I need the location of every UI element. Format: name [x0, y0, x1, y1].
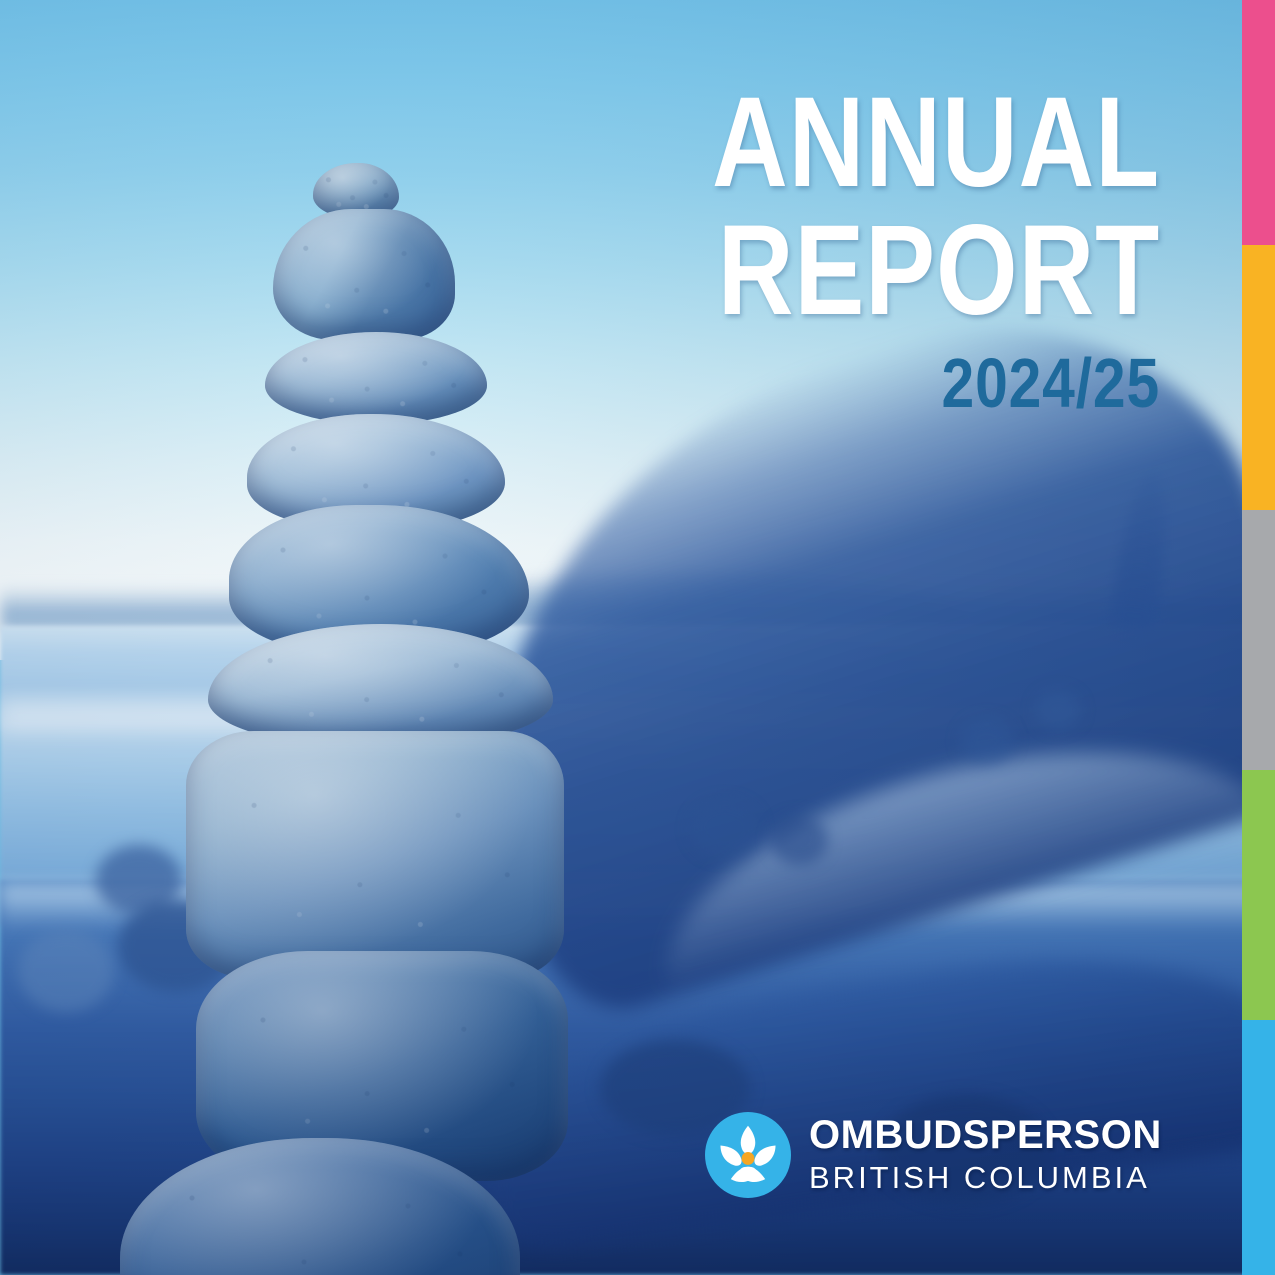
brand-color-stripe	[1242, 0, 1275, 1275]
cairn-stone-7	[186, 731, 564, 979]
color-stripe-segment-pink	[1242, 0, 1275, 245]
color-stripe-segment-cyan	[1242, 1020, 1275, 1275]
cover-title-block: ANNUAL REPORT 2024/25	[460, 88, 1160, 418]
logo-organization-name: OMBUDSPERSON	[809, 1115, 1162, 1155]
ombudsperson-bc-logo: OMBUDSPERSON BRITISH COLUMBIA	[705, 1112, 1162, 1198]
title-line-annual: ANNUAL	[586, 88, 1160, 198]
cairn-stone-3	[265, 332, 487, 424]
background-pebble	[960, 718, 1014, 764]
report-cover-page: ANNUAL REPORT 2024/25 OMBUDSPERSON BRITI…	[0, 0, 1275, 1275]
title-line-report: REPORT	[586, 216, 1160, 326]
color-stripe-segment-gray	[1242, 510, 1275, 770]
color-stripe-segment-yellow	[1242, 245, 1275, 510]
dogwood-flower-icon	[705, 1112, 791, 1198]
color-stripe-segment-green	[1242, 770, 1275, 1020]
cairn-stone-6	[208, 624, 553, 746]
logo-jurisdiction: BRITISH COLUMBIA	[809, 1162, 1162, 1193]
background-pebble	[1035, 690, 1081, 730]
logo-wordmark: OMBUDSPERSON BRITISH COLUMBIA	[809, 1115, 1162, 1195]
background-pebble	[690, 800, 760, 858]
title-year: 2024/25	[572, 348, 1160, 418]
background-pebble	[770, 815, 828, 865]
cairn-stone-2	[273, 209, 455, 340]
